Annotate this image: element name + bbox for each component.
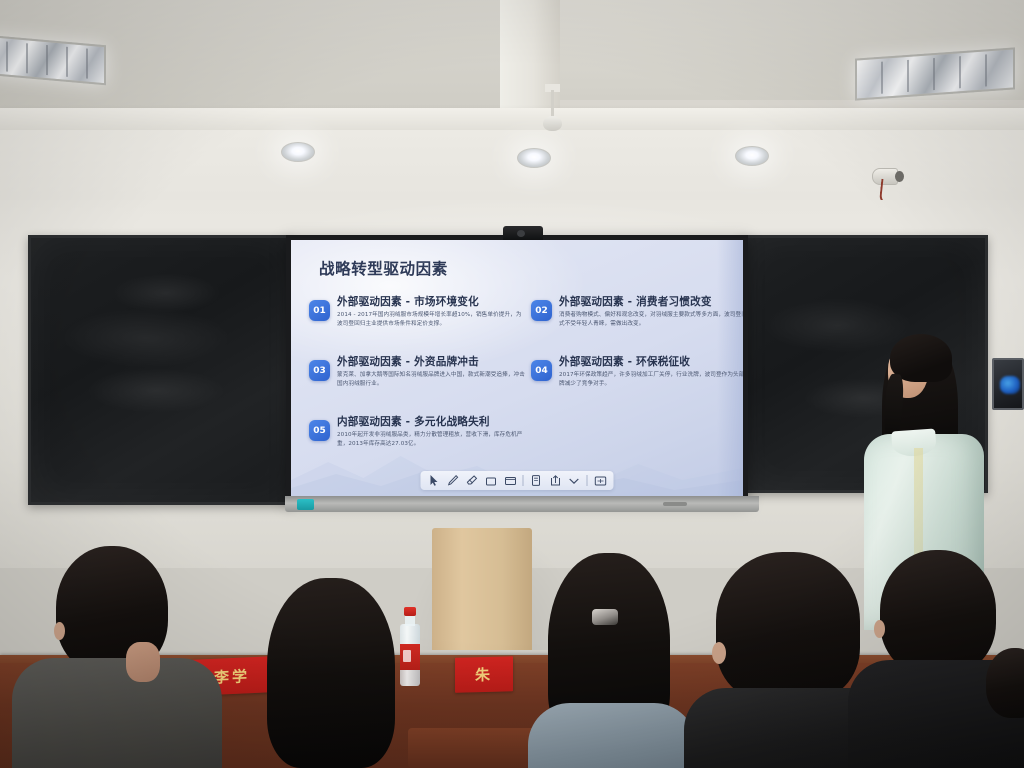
- item-title: 外部驱动因素 - 外资品牌冲击: [337, 356, 527, 369]
- side-monitor-content: [1000, 376, 1020, 394]
- ime-icon[interactable]: [591, 473, 610, 488]
- item-title: 外部驱动因素 - 消费者习惯改变: [559, 296, 743, 309]
- slide-item-04: 04 外部驱动因素 - 环保税征收 2017年环保政策趋严，许多羽绒加工厂关停，…: [531, 356, 743, 389]
- audience-member: [986, 648, 1024, 768]
- slide-title: 战略转型驱动因素: [319, 257, 448, 279]
- item-number-badge: 03: [309, 360, 330, 381]
- name-placard: 朱: [455, 656, 513, 693]
- pen-icon[interactable]: [444, 473, 463, 488]
- chalkboard-left: [28, 235, 293, 505]
- item-description: 2017年环保政策趋严，许多羽绒加工厂关停，行业洗牌，波司登作为头部品牌减少了竞…: [559, 371, 743, 388]
- classroom-scene: 战略转型驱动因素 01 外部驱动因素 - 市场环境变化 2014 - 2017年…: [0, 0, 1024, 768]
- cursor-icon[interactable]: [425, 473, 444, 488]
- frame-icon[interactable]: [501, 473, 520, 488]
- downlight-icon: [735, 146, 769, 166]
- item-number-badge: 04: [531, 360, 552, 381]
- rectangle-icon[interactable]: [482, 473, 501, 488]
- bottle-cap: [404, 607, 416, 616]
- display-power-button[interactable]: [663, 502, 687, 506]
- page-list-icon[interactable]: [527, 473, 546, 488]
- board-assembly: 战略转型驱动因素 01 外部驱动因素 - 市场环境变化 2014 - 2017年…: [28, 235, 988, 513]
- slide-item-02: 02 外部驱动因素 - 消费者习惯改变 消费者购物模式、偏好和观念改变，对羽绒服…: [531, 296, 743, 329]
- display-bezel: [285, 496, 759, 512]
- interactive-smart-display[interactable]: 战略转型驱动因素 01 外部驱动因素 - 市场环境变化 2014 - 2017年…: [286, 235, 748, 501]
- audience-member: [30, 538, 200, 768]
- item-number-badge: 01: [309, 300, 330, 321]
- display-brand-logo: [297, 499, 314, 510]
- toolbar-separator: [523, 475, 524, 486]
- slide-item-01: 01 外部驱动因素 - 市场环境变化 2014 - 2017年国内羽绒服市场规模…: [309, 296, 527, 329]
- ceiling-lower-panel: [0, 130, 1024, 210]
- toolbar-separator: [587, 475, 588, 486]
- audience-member: [520, 553, 700, 768]
- wooden-podium: [432, 528, 532, 650]
- downlight-icon: [281, 142, 315, 162]
- audience-area: 李学 朱: [0, 528, 1024, 768]
- downlight-icon: [517, 148, 551, 168]
- ceiling-beam-horizontal: [0, 108, 1024, 130]
- item-number-badge: 05: [309, 420, 330, 441]
- item-description: 蒙克莱、加拿大鹅等国际知名羽绒服品牌进入中国，款式新潮受追捧，冲击国内羽绒服行业…: [337, 371, 527, 388]
- item-description: 2014 - 2017年国内羽绒服市场规模年增长率超10%，销售单价提升，为波司…: [337, 311, 527, 328]
- hair-clip: [592, 609, 618, 625]
- side-monitor: [992, 358, 1024, 410]
- item-title: 外部驱动因素 - 市场环境变化: [337, 296, 527, 309]
- slide-item-03: 03 外部驱动因素 - 外资品牌冲击 蒙克莱、加拿大鹅等国际知名羽绒服品牌进入中…: [309, 356, 527, 389]
- eraser-icon[interactable]: [463, 473, 482, 488]
- item-title: 外部驱动因素 - 环保税征收: [559, 356, 743, 369]
- ceiling-speaker-icon: [543, 116, 562, 131]
- slide-item-05: 05 内部驱动因素 - 多元化战略失利 2010年起开发非羽绒服品类，精力分散管…: [309, 416, 527, 449]
- chevron-down-icon[interactable]: [565, 473, 584, 488]
- annotation-toolbar[interactable]: [421, 471, 614, 490]
- item-number-badge: 02: [531, 300, 552, 321]
- display-camera-icon: [503, 226, 543, 241]
- item-description: 2010年起开发非羽绒服品类，精力分散管理粗放，营收下滑，库存危机严重，2013…: [337, 431, 527, 448]
- hand: [126, 642, 160, 682]
- item-description: 消费者购物模式、偏好和观念改变，对羽绒服主要款式等多方面，波司登旧款式不受年轻人…: [559, 311, 743, 328]
- export-icon[interactable]: [546, 473, 565, 488]
- audience-member: [255, 578, 405, 768]
- item-title: 内部驱动因素 - 多元化战略失利: [337, 416, 527, 429]
- presentation-slide[interactable]: 战略转型驱动因素 01 外部驱动因素 - 市场环境变化 2014 - 2017年…: [291, 240, 743, 496]
